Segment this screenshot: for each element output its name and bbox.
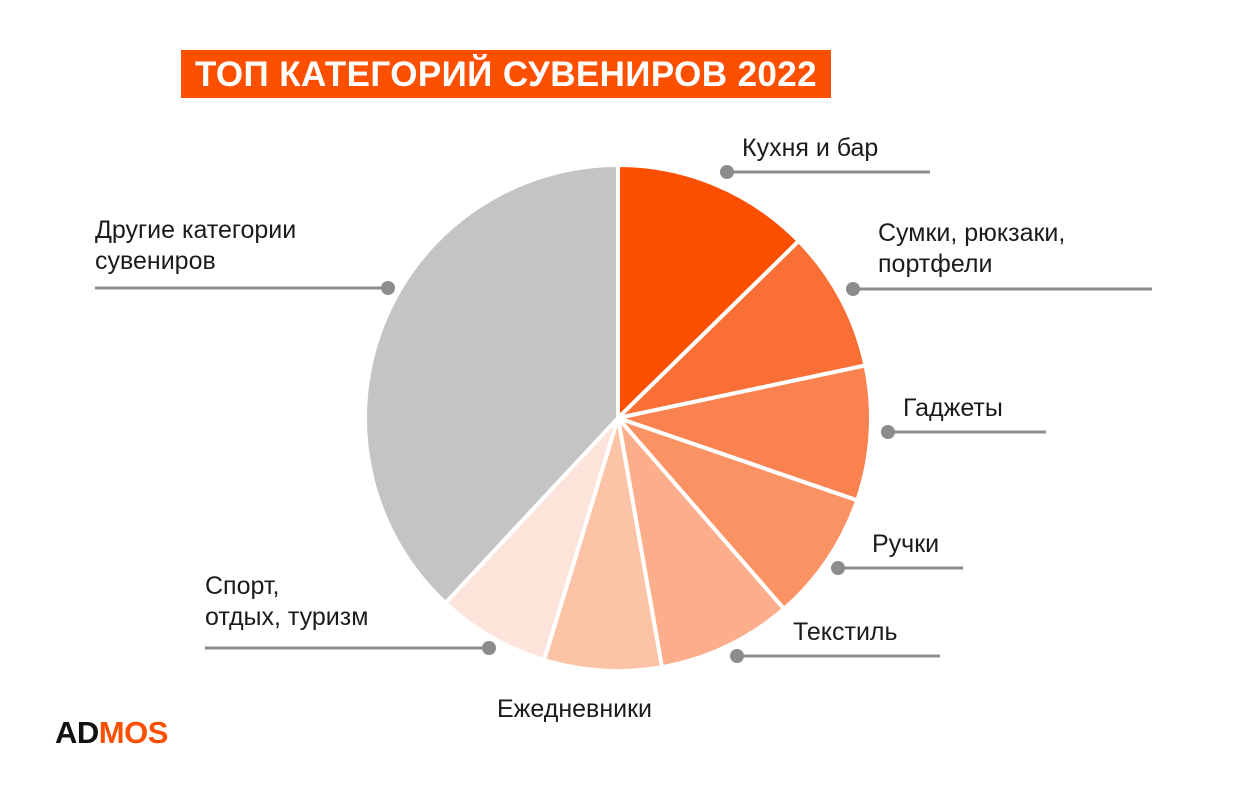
label-other: Другие категории сувениров — [95, 215, 296, 277]
leader-dot-other — [381, 281, 395, 295]
label-bags: Сумки, рюкзаки, портфели — [878, 218, 1065, 280]
label-textile: Текстиль — [793, 617, 898, 648]
leader-dot-sport — [482, 641, 496, 655]
leader-dot-bags — [846, 282, 860, 296]
logo-text-ad: AD — [55, 715, 99, 750]
leader-dot-textile — [730, 649, 744, 663]
pie-chart — [0, 0, 1240, 800]
label-kitchen: Кухня и бар — [742, 133, 878, 164]
admos-logo: ADMOS — [55, 715, 168, 751]
logo-text-mos: MOS — [99, 715, 168, 750]
leader-dot-gadgets — [881, 425, 895, 439]
label-pens: Ручки — [872, 529, 939, 560]
label-gadgets: Гаджеты — [903, 393, 1003, 424]
leader-dot-pens — [831, 561, 845, 575]
label-sport: Спорт, отдых, туризм — [205, 571, 368, 633]
infographic-canvas: ТОП КАТЕГОРИЙ СУВЕНИРОВ 2022 — [0, 0, 1240, 800]
label-diaries: Ежедневники — [497, 694, 652, 725]
leader-dot-kitchen — [720, 165, 734, 179]
pie-slice-group — [365, 165, 871, 671]
